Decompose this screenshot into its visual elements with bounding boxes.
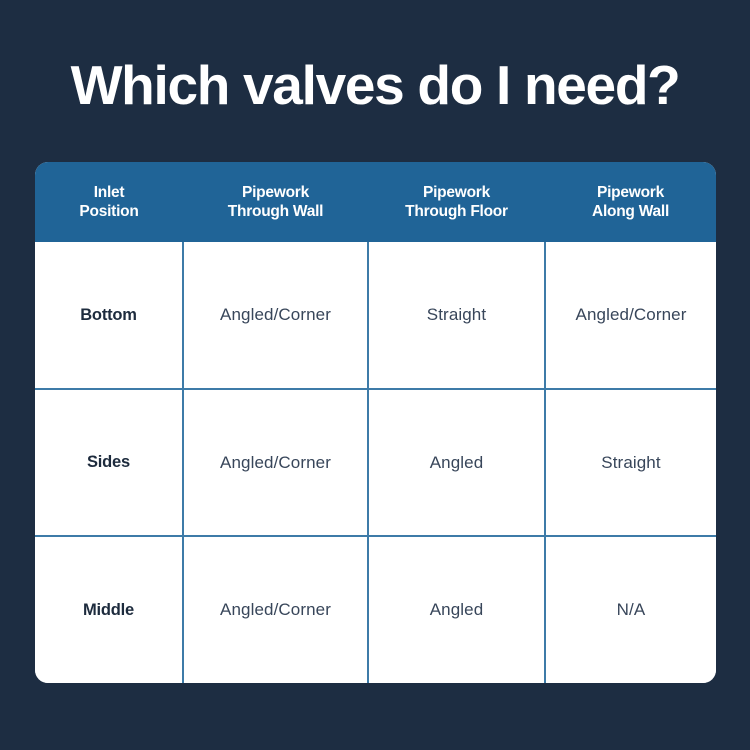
column-header-pipework-along-wall: Pipework Along Wall xyxy=(545,162,716,242)
cell-bottom-through-wall: Angled/Corner xyxy=(183,242,368,389)
cell-middle-along-wall: N/A xyxy=(545,536,716,683)
table-row: Sides Angled/Corner Angled Straight xyxy=(35,389,716,536)
column-header-line1: Pipework xyxy=(368,183,545,202)
column-header-line2: Through Floor xyxy=(368,202,545,221)
column-header-line2: Along Wall xyxy=(545,202,716,221)
column-header-line2: Through Wall xyxy=(183,202,368,221)
page-title: Which valves do I need? xyxy=(0,54,750,116)
row-label-middle: Middle xyxy=(35,536,183,683)
infographic-page: Which valves do I need? Inlet Position P… xyxy=(0,0,750,750)
table-row: Middle Angled/Corner Angled N/A xyxy=(35,536,716,683)
column-header-line1: Pipework xyxy=(183,183,368,202)
header-row: Inlet Position Pipework Through Wall Pip… xyxy=(35,162,716,242)
column-header-inlet-position: Inlet Position xyxy=(35,162,183,242)
cell-middle-through-wall: Angled/Corner xyxy=(183,536,368,683)
column-header-pipework-through-wall: Pipework Through Wall xyxy=(183,162,368,242)
cell-bottom-along-wall: Angled/Corner xyxy=(545,242,716,389)
cell-sides-through-floor: Angled xyxy=(368,389,545,536)
table-header: Inlet Position Pipework Through Wall Pip… xyxy=(35,162,716,242)
table-body: Bottom Angled/Corner Straight Angled/Cor… xyxy=(35,242,716,683)
cell-sides-through-wall: Angled/Corner xyxy=(183,389,368,536)
table-row: Bottom Angled/Corner Straight Angled/Cor… xyxy=(35,242,716,389)
valve-selection-table: Inlet Position Pipework Through Wall Pip… xyxy=(35,162,716,683)
column-header-line2: Position xyxy=(35,202,183,221)
valve-selection-card: Inlet Position Pipework Through Wall Pip… xyxy=(35,162,716,683)
cell-sides-along-wall: Straight xyxy=(545,389,716,536)
column-header-line1: Pipework xyxy=(545,183,716,202)
cell-middle-through-floor: Angled xyxy=(368,536,545,683)
column-header-pipework-through-floor: Pipework Through Floor xyxy=(368,162,545,242)
cell-bottom-through-floor: Straight xyxy=(368,242,545,389)
column-header-line1: Inlet xyxy=(35,183,183,202)
row-label-bottom: Bottom xyxy=(35,242,183,389)
row-label-sides: Sides xyxy=(35,389,183,536)
